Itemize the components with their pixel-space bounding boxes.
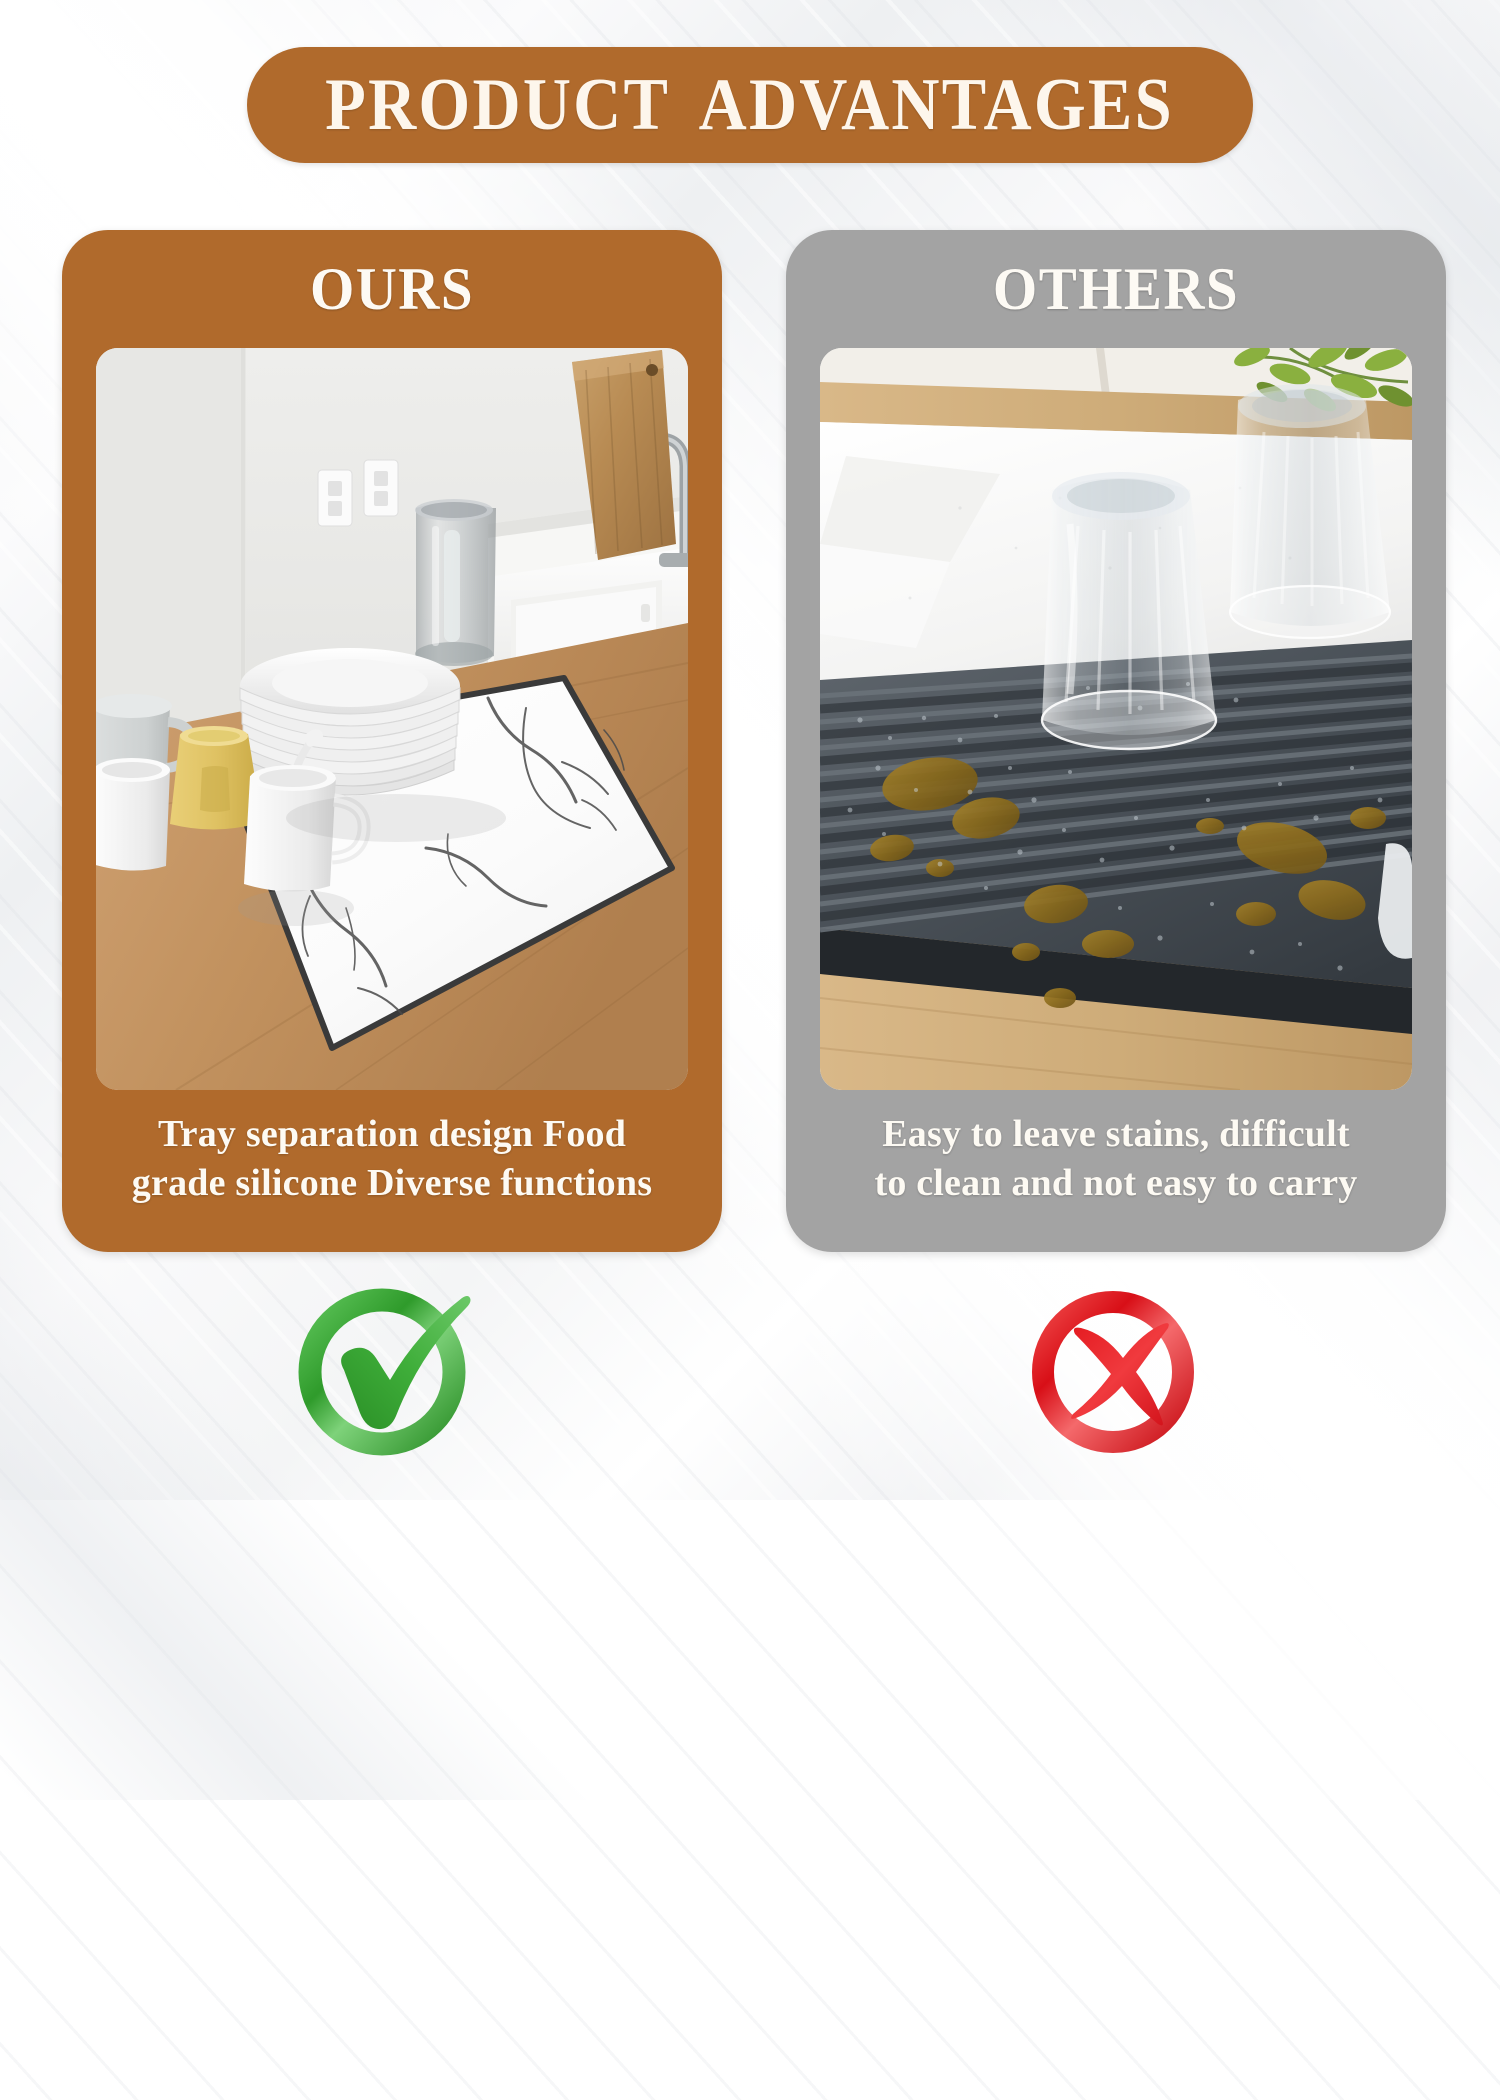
product-photo-others [820,348,1412,1090]
caption-line-2: grade silicone Diverse functions [92,1159,692,1208]
red-cross-svg [1018,1282,1208,1460]
product-photo-ours [96,348,688,1090]
cross-mark-stroke [1071,1323,1169,1425]
card-caption-others: Easy to leave stains, difficult to clean… [816,1110,1416,1209]
page-title: PRODUCT ADVANTAGES [326,68,1175,142]
page-title-banner: PRODUCT ADVANTAGES [247,47,1253,163]
comparison-card-others: OTHERS [786,230,1446,1252]
photo-others-illustration [820,348,1412,1090]
card-title-ours: OURS [79,230,706,348]
green-check-circle-icon [292,1282,482,1460]
white-mug [96,758,170,871]
comparison-card-ours: OURS [62,230,722,1252]
card-title-others: OTHERS [803,230,1430,348]
red-cross-circle-icon [1018,1282,1208,1460]
caption-line-2: to clean and not easy to carry [816,1159,1416,1208]
card-caption-ours: Tray separation design Food grade silico… [92,1110,692,1209]
clear-pitcher [415,499,496,666]
clear-glass-back [1230,384,1390,638]
caption-line-1: Easy to leave stains, difficult [816,1110,1416,1159]
caption-line-1: Tray separation design Food [92,1110,692,1159]
photo-ours-illustration [96,348,688,1090]
green-check-svg [292,1282,482,1460]
clear-glass-front [1042,472,1216,749]
